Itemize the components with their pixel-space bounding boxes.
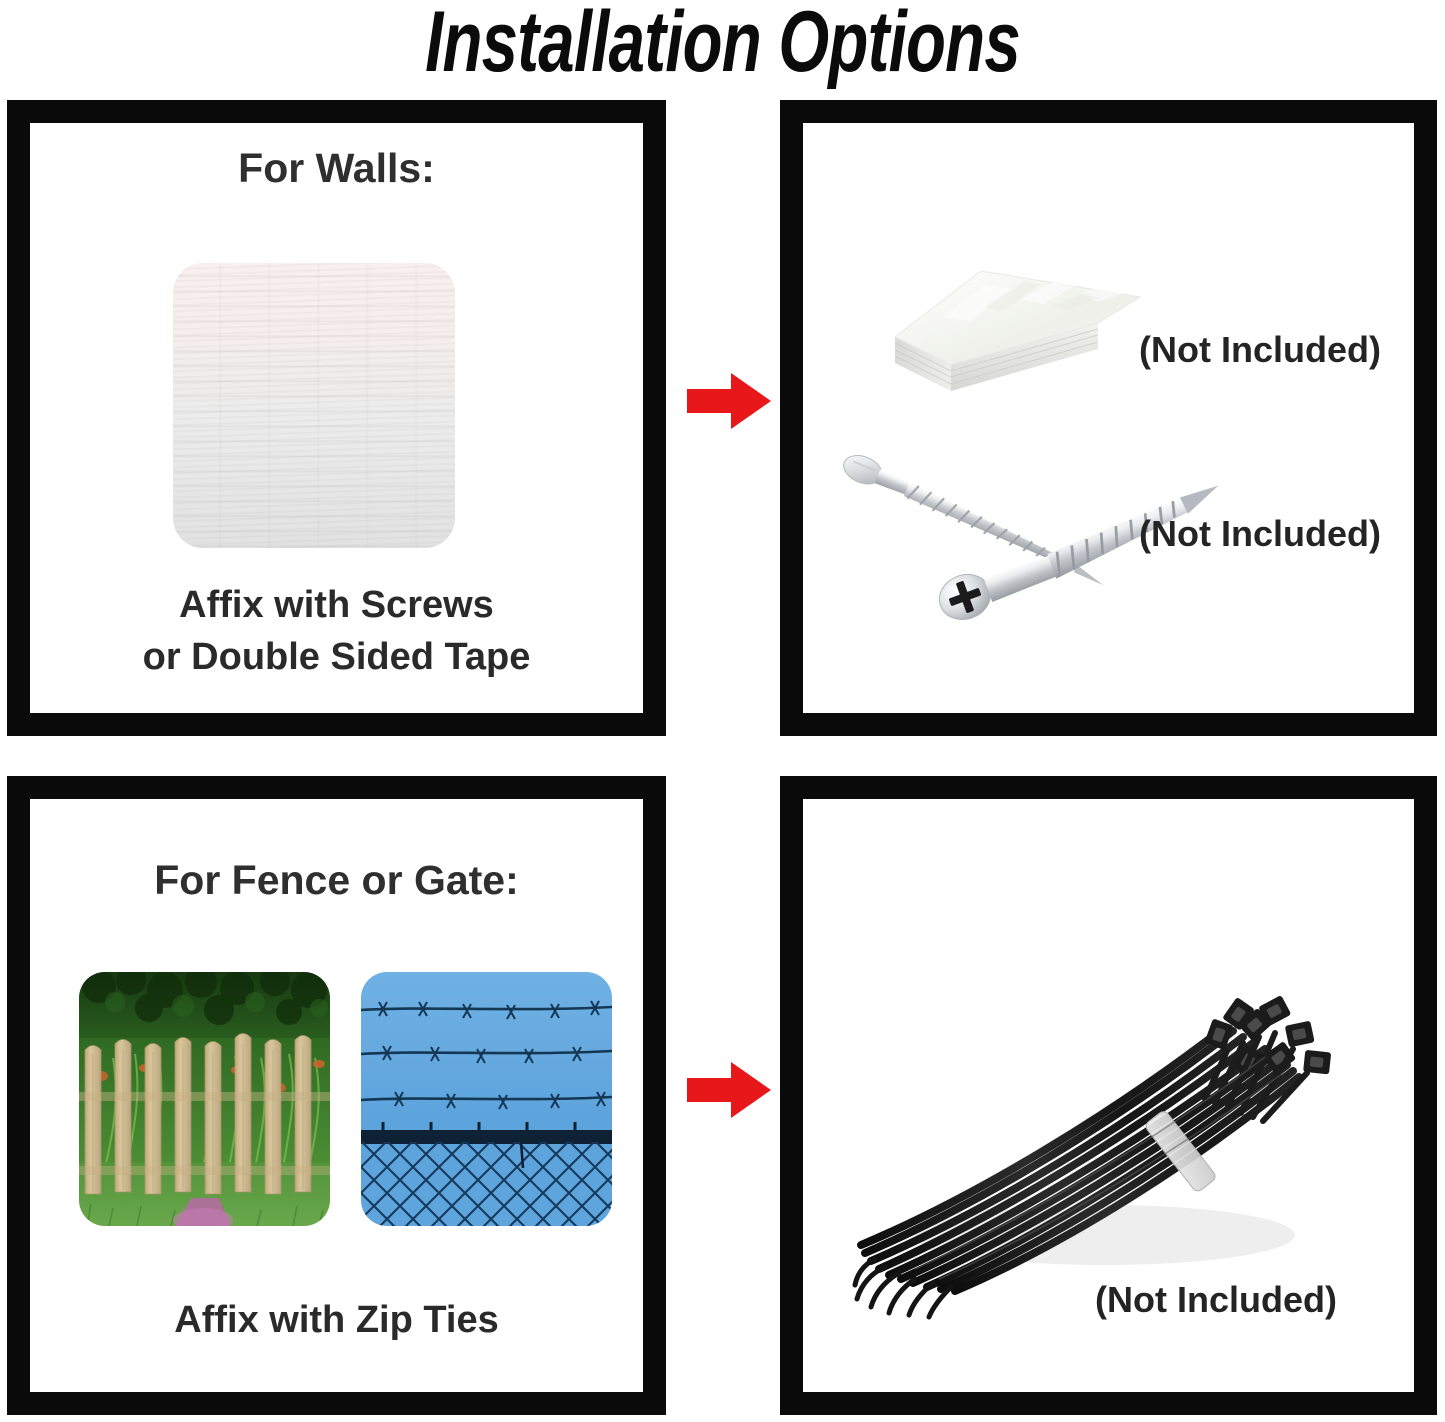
panel-heading-for-walls: For Walls:: [30, 145, 643, 192]
panel-fence-hardware: (Not Included): [780, 776, 1437, 1415]
chain-link-fence-image: [361, 972, 612, 1226]
zip-tie-bundle-image: [855, 917, 1355, 1317]
panel-wall-hardware: (Not Included): [780, 100, 1437, 736]
screws-not-included-label: (Not Included): [1139, 513, 1381, 555]
panel-caption-for-walls: Affix with Screws or Double Sided Tape: [30, 579, 643, 683]
wall-texture-grain: [173, 263, 455, 548]
wooden-picket-fence-image: [79, 972, 330, 1226]
right-arrow-icon: [687, 1062, 771, 1118]
caption-line-1: Affix with Screws: [30, 579, 643, 631]
caption-line-1: Affix with Zip Ties: [30, 1294, 643, 1346]
installation-options-infographic: Installation Options For Walls: Affix wi…: [0, 0, 1445, 1422]
zip-ties-not-included-label: (Not Included): [1095, 1279, 1337, 1321]
panel-for-walls: For Walls: Affix with Screws or Double S…: [7, 100, 666, 736]
panel-caption-for-fence-or-gate: Affix with Zip Ties: [30, 1294, 643, 1346]
caption-line-2: or Double Sided Tape: [30, 631, 643, 683]
tape-not-included-label: (Not Included): [1139, 329, 1381, 371]
page-title: Installation Options: [173, 0, 1271, 90]
right-arrow-icon: [687, 373, 771, 429]
panel-for-fence-or-gate: For Fence or Gate:: [7, 776, 666, 1415]
double-sided-tape-stack-image: [885, 245, 1150, 425]
panel-heading-for-fence-or-gate: For Fence or Gate:: [30, 857, 643, 904]
white-brick-wall-image: [173, 263, 455, 548]
